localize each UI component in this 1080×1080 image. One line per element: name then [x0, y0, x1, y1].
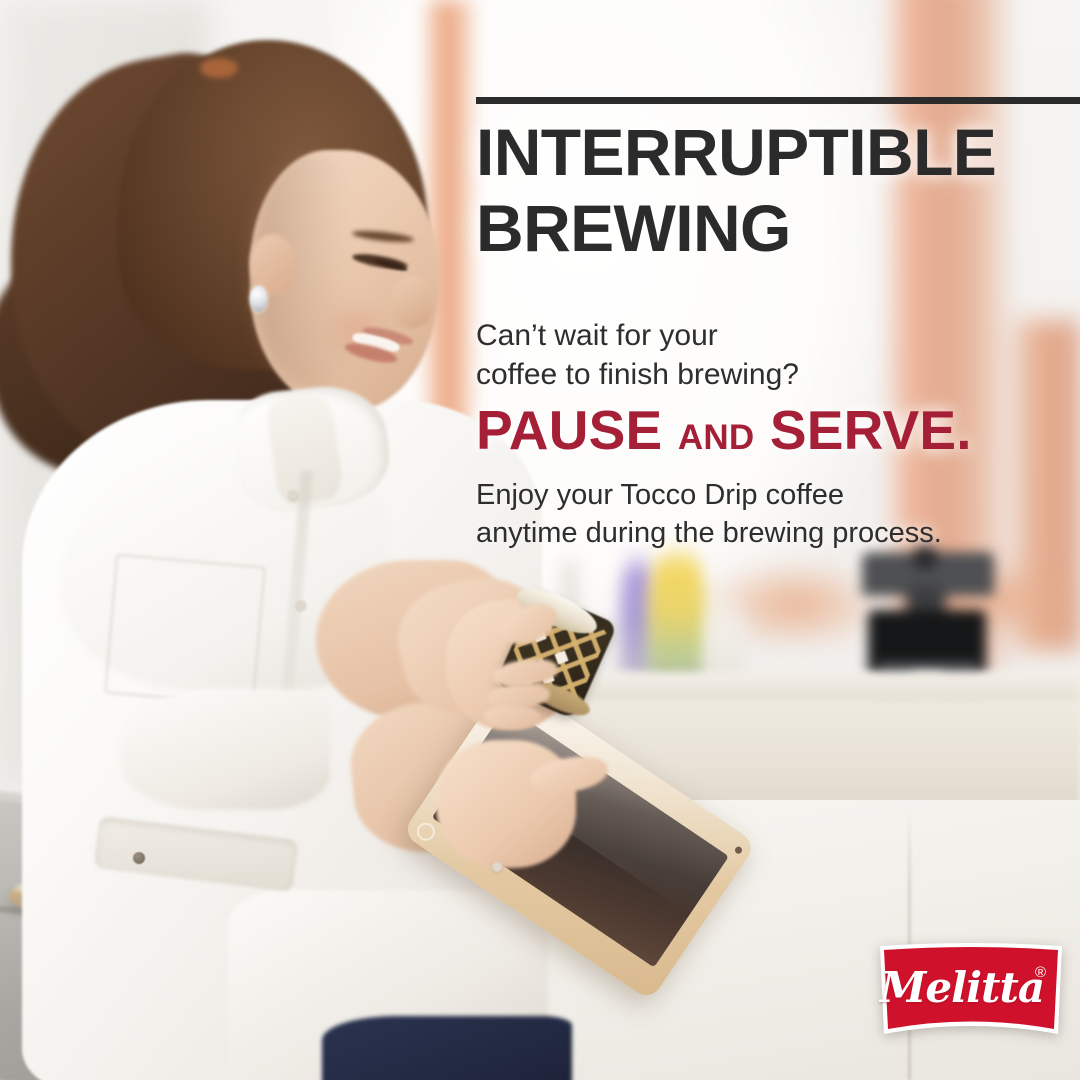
logo-red-field	[884, 947, 1058, 1029]
registered-trademark-icon: ®	[1035, 964, 1046, 981]
question-line-1: Can’t wait for your	[476, 319, 718, 352]
shirt-pocket	[104, 554, 266, 707]
shirt-button-top	[288, 490, 298, 500]
punchline-text: PAUSE AND SERVE.	[476, 400, 1036, 468]
page-title: INTERRUPTIBLE BREWING	[476, 114, 1036, 266]
earring	[250, 286, 267, 312]
body-line-2: anytime during the brewing process.	[476, 517, 942, 549]
body-line-1: Enjoy your Tocco Drip coffee	[476, 479, 844, 511]
shirt-button-lower	[492, 862, 502, 872]
shirt-sleeve-fold	[120, 690, 330, 810]
melitta-logo: Melitta ®	[876, 940, 1066, 1042]
punchline-word-1: PAUSE	[476, 399, 662, 461]
hand-holding-tablet	[436, 740, 576, 868]
headline-line-2: BREWING	[476, 191, 791, 265]
shirt-button-mid	[296, 600, 306, 610]
ad-creative: INTERRUPTIBLE BREWING Can’t wait for you…	[0, 0, 1080, 1080]
shirt-cuff-button	[133, 852, 145, 864]
bottle-yellow	[648, 540, 706, 690]
question-text: Can’t wait for your coffee to finish bre…	[476, 316, 996, 394]
punchline-connector: AND	[678, 418, 754, 457]
jeans	[322, 1016, 572, 1080]
logo-banner-shape	[876, 940, 1066, 1042]
body-text: Enjoy your Tocco Drip coffee anytime dur…	[476, 476, 1016, 552]
headline-line-1: INTERRUPTIBLE	[476, 115, 996, 189]
headline-rule	[476, 97, 1080, 104]
hair-tie	[200, 58, 238, 78]
nose	[392, 276, 434, 328]
question-line-2: coffee to finish brewing?	[476, 358, 799, 391]
punchline-word-2: SERVE.	[770, 399, 972, 461]
